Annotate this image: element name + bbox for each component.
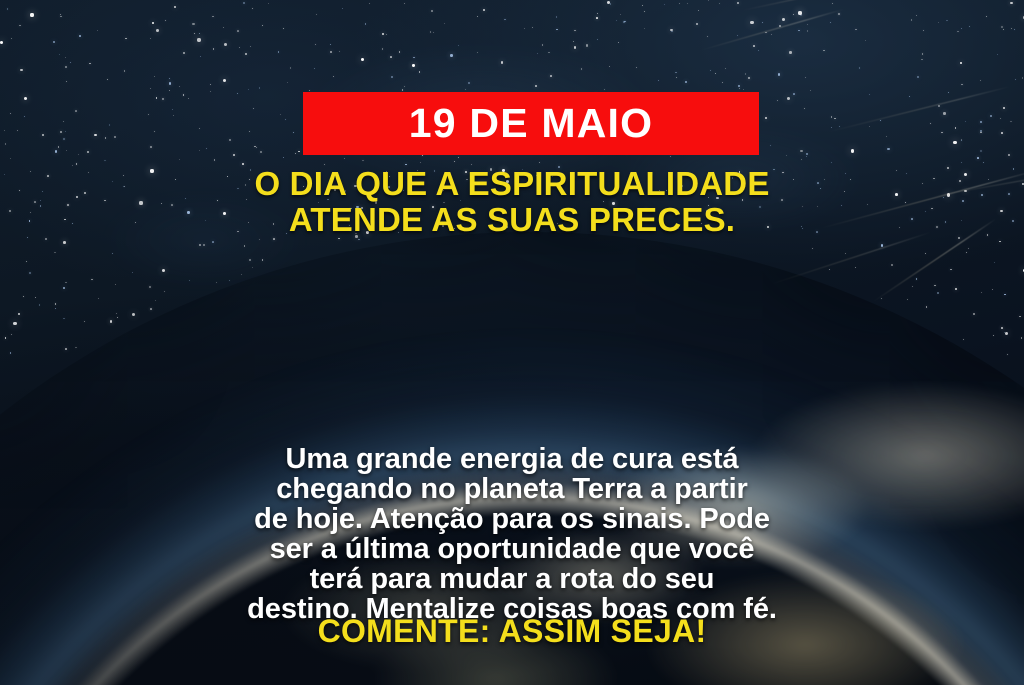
body-copy-line-2: chegando no planeta Terra a partir [62, 474, 962, 504]
body-copy-line-3: de hoje. Atenção para os sinais. Pode [62, 504, 962, 534]
cta-text: COMENTE: ASSIM SEJA! [0, 613, 1024, 649]
headline-line-1: O DIA QUE A ESPIRITUALIDADE [0, 166, 1024, 202]
body-copy-line-1: Uma grande energia de cura está [62, 444, 962, 474]
headline: O DIA QUE A ESPIRITUALIDADE ATENDE AS SU… [0, 166, 1024, 238]
body-copy-line-5: terá para mudar a rota do seu [62, 564, 962, 594]
date-banner-text: 19 DE MAIO [409, 103, 653, 144]
poster-canvas: 19 DE MAIO O DIA QUE A ESPIRITUALIDADE A… [0, 0, 1024, 685]
headline-line-2: ATENDE AS SUAS PRECES. [0, 202, 1024, 238]
body-copy-line-4: ser a última oportunidade que você [62, 534, 962, 564]
body-copy: Uma grande energia de cura está chegando… [62, 444, 962, 624]
date-banner: 19 DE MAIO [303, 92, 759, 155]
